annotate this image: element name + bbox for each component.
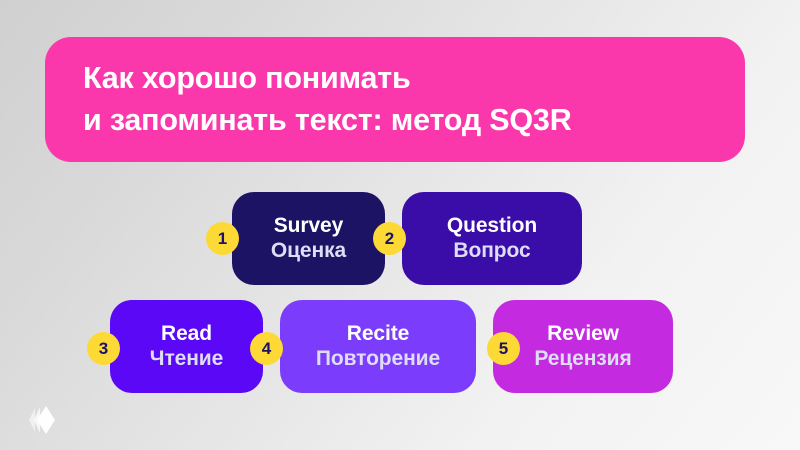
steps-row-two: Read Чтение Recite Повторение Review Рец… <box>110 300 673 393</box>
step-title-ru: Вопрос <box>453 239 530 264</box>
step-title-en: Read <box>161 322 212 347</box>
step-badge-1: 1 <box>206 222 239 255</box>
title-line-1: Как хорошо понимать <box>83 58 707 100</box>
slide-canvas: Как хорошо понимать и запоминать текст: … <box>0 0 800 450</box>
steps-row-one: Survey Оценка Question Вопрос <box>232 192 582 285</box>
diamond-chevron-logo-icon <box>20 403 62 437</box>
step-card-review[interactable]: Review Рецензия <box>493 300 673 393</box>
step-card-recite[interactable]: Recite Повторение <box>280 300 476 393</box>
step-badge-3: 3 <box>87 332 120 365</box>
brand-logo <box>20 403 62 437</box>
step-title-ru: Чтение <box>150 347 223 372</box>
step-card-question[interactable]: Question Вопрос <box>402 192 582 285</box>
step-title-en: Question <box>447 214 537 239</box>
step-title-ru: Оценка <box>271 239 346 264</box>
step-badge-4: 4 <box>250 332 283 365</box>
step-title-en: Review <box>547 322 619 347</box>
step-title-ru: Повторение <box>316 347 440 372</box>
title-banner: Как хорошо понимать и запоминать текст: … <box>45 37 745 162</box>
step-badge-5: 5 <box>487 332 520 365</box>
step-title-en: Recite <box>347 322 409 347</box>
title-line-2: и запоминать текст: метод SQ3R <box>83 100 707 142</box>
step-title-ru: Рецензия <box>534 347 631 372</box>
step-badge-2: 2 <box>373 222 406 255</box>
step-card-read[interactable]: Read Чтение <box>110 300 263 393</box>
step-card-survey[interactable]: Survey Оценка <box>232 192 385 285</box>
step-title-en: Survey <box>274 214 343 239</box>
